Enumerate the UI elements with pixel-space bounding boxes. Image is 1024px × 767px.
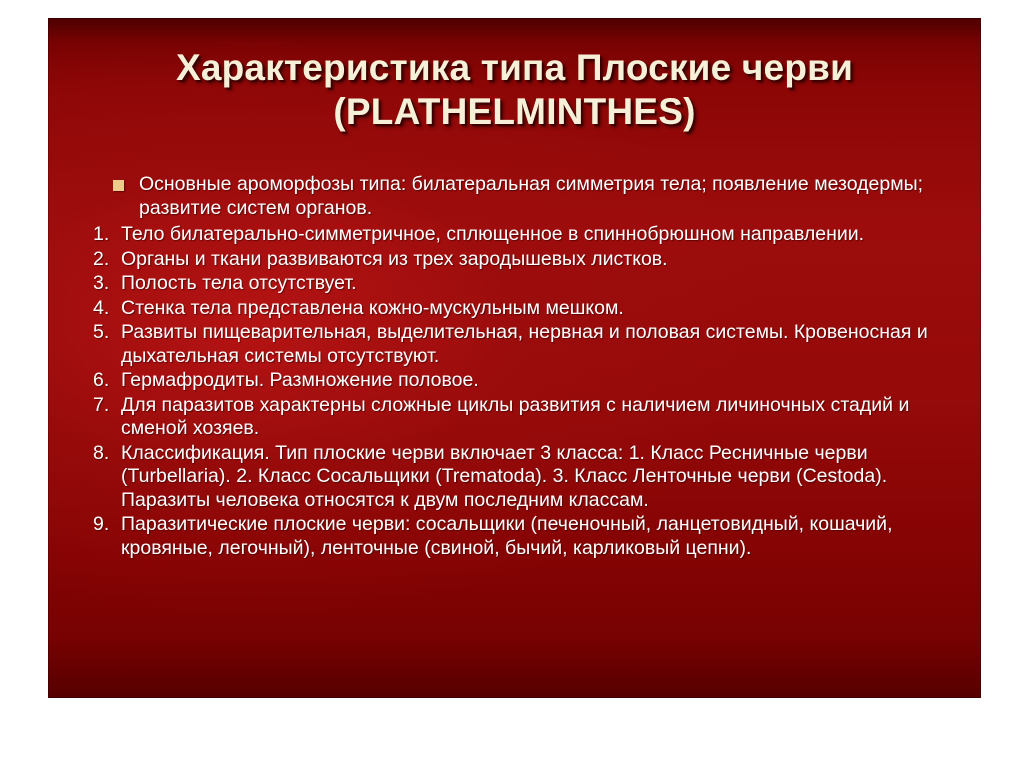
list-item-number: 2. bbox=[93, 248, 118, 272]
list-item-number: 3. bbox=[93, 272, 118, 296]
title-line-2: (PLATHELMINTHES) bbox=[48, 90, 981, 134]
square-bullet-icon bbox=[113, 180, 124, 191]
list-item-text: Для паразитов характерны сложные циклы р… bbox=[121, 394, 948, 441]
presentation-page: Характеристика типа Плоские черви (PLATH… bbox=[0, 0, 1024, 767]
list-item-text: Тело билатерально-симметричное, сплющенн… bbox=[121, 223, 948, 247]
list-item-4: 4. Стенка тела представлена кожно-мускул… bbox=[93, 297, 948, 321]
list-item-bullet: Основные ароморфозы типа: билатеральная … bbox=[93, 173, 948, 220]
list-item-5: 5. Развиты пищеварительная, выделительна… bbox=[93, 321, 948, 368]
list-item-text: Развиты пищеварительная, выделительная, … bbox=[121, 321, 948, 368]
list-item-6: 6. Гермафродиты. Размножение половое. bbox=[93, 369, 948, 393]
list-item-number: 8. bbox=[93, 442, 118, 466]
slide-title: Характеристика типа Плоские черви (PLATH… bbox=[48, 46, 981, 134]
list-item-9: 9. Паразитические плоские черви: сосальщ… bbox=[93, 513, 948, 560]
list-item-8: 8. Классификация. Тип плоские черви вклю… bbox=[93, 442, 948, 513]
list-item-1: 1. Тело билатерально-симметричное, сплющ… bbox=[93, 223, 948, 247]
list-item-3: 3. Полость тела отсутствует. bbox=[93, 272, 948, 296]
list-item-text: Гермафродиты. Размножение половое. bbox=[121, 369, 948, 393]
list-item-2: 2. Органы и ткани развиваются из трех за… bbox=[93, 248, 948, 272]
list-item-number: 7. bbox=[93, 394, 118, 418]
list-item-text: Органы и ткани развиваются из трех зарод… bbox=[121, 248, 948, 272]
list-item-number: 5. bbox=[93, 321, 118, 345]
list-item-number: 4. bbox=[93, 297, 118, 321]
list-item-7: 7. Для паразитов характерны сложные цикл… bbox=[93, 394, 948, 441]
list-item-text: Паразитические плоские черви: сосальщики… bbox=[121, 513, 948, 560]
slide-surface: Характеристика типа Плоские черви (PLATH… bbox=[48, 18, 981, 698]
list-item-text: Стенка тела представлена кожно-мускульны… bbox=[121, 297, 948, 321]
title-line-1: Характеристика типа Плоские черви bbox=[48, 46, 981, 90]
list-item-number: 1. bbox=[93, 223, 118, 247]
list-item-text: Основные ароморфозы типа: билатеральная … bbox=[139, 173, 929, 220]
slide-body: Основные ароморфозы типа: билатеральная … bbox=[93, 173, 948, 561]
list-item-number: 9. bbox=[93, 513, 118, 537]
list-item-text: Полость тела отсутствует. bbox=[121, 272, 948, 296]
list-item-number: 6. bbox=[93, 369, 118, 393]
list-item-text: Классификация. Тип плоские черви включае… bbox=[121, 442, 948, 513]
